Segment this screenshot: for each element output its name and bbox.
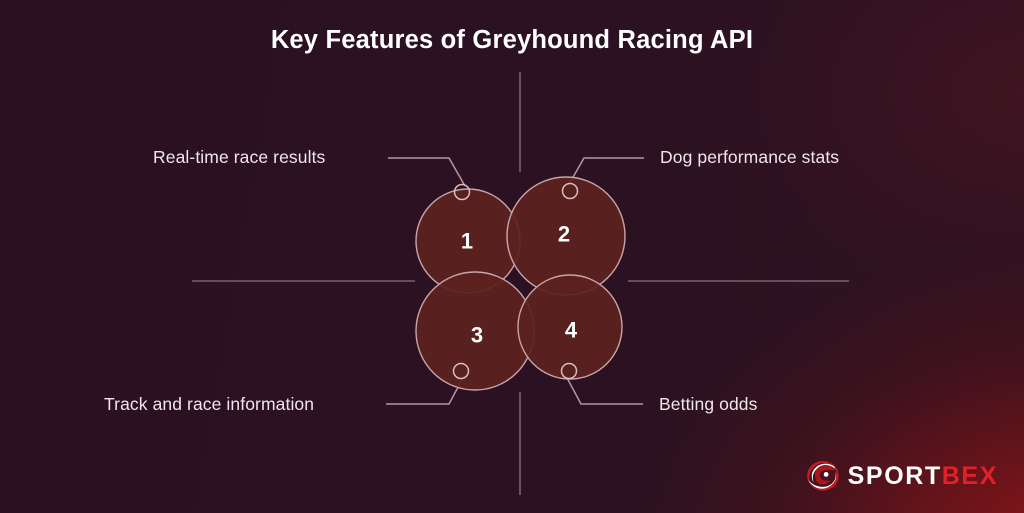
bubble-label-real-time-race-results: Real-time race results: [153, 147, 325, 168]
bubble-label-dog-performance-stats: Dog performance stats: [660, 147, 839, 168]
bubble-4-number: 4: [565, 318, 578, 343]
guide-lines: [192, 72, 849, 495]
leader-line-1: [388, 158, 465, 186]
brand-name-accent: BEX: [942, 462, 998, 490]
leader-line-4: [566, 376, 643, 404]
bubble-2-number: 2: [558, 222, 570, 247]
brand-logo-text: SPORTBEX: [848, 464, 998, 489]
brand-name-primary: SPORT: [848, 462, 942, 490]
bubble-1-number: 1: [461, 229, 473, 254]
brand-logo[interactable]: SPORTBEX: [806, 461, 998, 491]
swoosh-icon: [806, 461, 840, 491]
bubble-3-number: 3: [471, 323, 483, 348]
bubble-label-betting-odds: Betting odds: [659, 394, 758, 415]
infographic-canvas: Key Features of Greyhound Racing API: [0, 0, 1024, 513]
bubble-diagram: 1 2 3 4: [0, 0, 1024, 513]
bubble-label-track-and-race-information: Track and race information: [104, 394, 314, 415]
bubble-group: [416, 177, 625, 390]
